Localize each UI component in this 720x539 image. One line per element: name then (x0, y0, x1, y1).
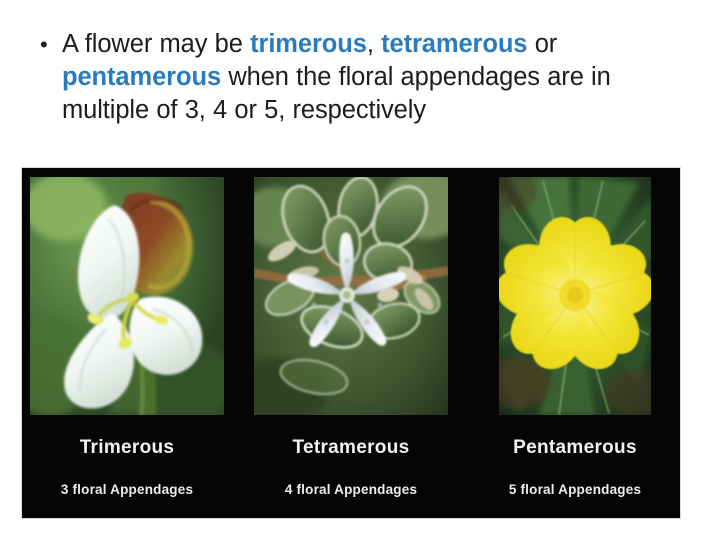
slide-text-block: • A flower may be trimerous, tetramerous… (0, 0, 720, 160)
text-run-3: or (527, 30, 557, 58)
photo-tetramerous-flower (254, 177, 448, 415)
figure-caption-tetramerous: 4 floral Appendages (285, 482, 417, 497)
figure-trimerous: Trimerous 3 floral Appendages (30, 177, 224, 518)
keyword-trimerous: trimerous (250, 30, 367, 58)
figure-grid: Trimerous 3 floral Appendages (22, 168, 680, 518)
figure-caption-pentamerous: 5 floral Appendages (509, 482, 641, 497)
figure-label-tetramerous: Tetramerous (293, 437, 410, 459)
figure-pentamerous: Pentamerous 5 floral Appendages (478, 177, 672, 518)
figure-tetramerous: Tetramerous 4 floral Appendages (254, 177, 448, 518)
bullet-marker-icon: • (40, 28, 62, 61)
keyword-tetramerous: tetramerous (381, 30, 527, 58)
bullet-item: • A flower may be trimerous, tetramerous… (40, 28, 690, 127)
photo-pentamerous-flower (499, 177, 651, 415)
figure-caption-trimerous: 3 floral Appendages (61, 482, 193, 497)
text-run-1: A flower may be (62, 30, 250, 58)
photo-trimerous-flower (30, 177, 224, 415)
figure-panel: Trimerous 3 floral Appendages (22, 168, 680, 518)
figure-label-pentamerous: Pentamerous (513, 437, 637, 459)
text-run-2: , (367, 30, 381, 58)
bullet-text: A flower may be trimerous, tetramerous o… (62, 28, 690, 127)
figure-label-trimerous: Trimerous (80, 437, 175, 459)
keyword-pentamerous: pentamerous (62, 63, 221, 91)
